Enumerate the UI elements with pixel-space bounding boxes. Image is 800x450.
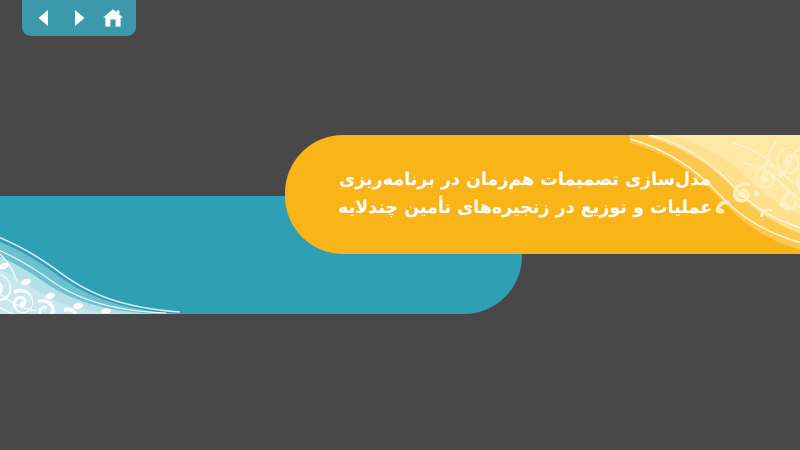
teal-arabesque-ornament bbox=[0, 196, 180, 314]
home-button[interactable] bbox=[99, 4, 127, 32]
orange-arabesque-ornament bbox=[630, 135, 800, 254]
next-button[interactable] bbox=[65, 4, 93, 32]
previous-button[interactable] bbox=[30, 4, 58, 32]
orange-title-banner bbox=[285, 135, 800, 254]
home-icon bbox=[102, 7, 124, 29]
triangle-right-icon bbox=[70, 9, 88, 27]
navigation-bar bbox=[22, 0, 136, 36]
presentation-slide: مدل‌سازی تصمیمات هم‌زمان در برنامه‌ریزی … bbox=[0, 0, 800, 450]
triangle-left-icon bbox=[35, 9, 53, 27]
